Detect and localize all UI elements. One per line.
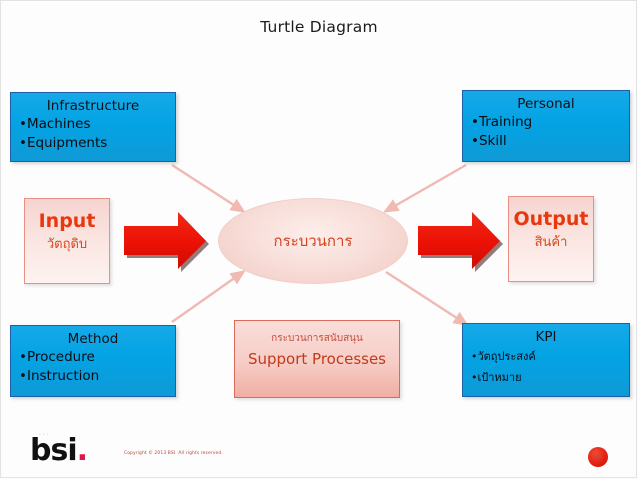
ellipse-process-label: กระบวนการ: [274, 229, 353, 253]
bsi-logo-text: bsi: [30, 433, 77, 468]
arrow-process-to-kpi: [386, 272, 466, 324]
box-infrastructure-heading: Infrastructure: [11, 98, 175, 115]
bsi-logo-dot: .: [77, 433, 87, 468]
box-support-thai-label: กระบวนการสนับสนุน: [235, 331, 399, 346]
box-infrastructure-item-2: •Equipments: [11, 134, 175, 153]
ellipse-process[interactable]: กระบวนการ: [218, 198, 408, 284]
box-method-heading: Method: [11, 331, 175, 348]
box-input[interactable]: Input วัตถุดิบ: [24, 198, 110, 284]
red-arrow-input: [124, 212, 209, 272]
box-personal-item-1: •Training: [463, 113, 629, 132]
box-support-label: Support Processes: [235, 350, 399, 368]
bsi-logo: bsi.: [30, 436, 87, 466]
box-infrastructure[interactable]: Infrastructure •Machines •Equipments: [10, 92, 176, 162]
box-kpi-item-2: •เป้าหมาย: [463, 367, 629, 388]
box-kpi-heading: KPI: [463, 329, 629, 346]
arrow-method-to-process: [172, 272, 243, 322]
arrow-personal-to-process: [386, 165, 466, 211]
slide-canvas: Turtle Diagram: [0, 0, 638, 479]
box-personal-heading: Personal: [463, 96, 629, 113]
box-output-sublabel: สินค้า: [509, 231, 593, 252]
box-method-item-1: •Procedure: [11, 348, 175, 367]
box-kpi-item-1: •วัตถุประสงค์: [463, 346, 629, 367]
box-output-label: Output: [509, 208, 593, 230]
box-input-sublabel: วัตถุดิบ: [25, 233, 109, 254]
page-title: Turtle Diagram: [0, 18, 638, 36]
box-personal-item-2: •Skill: [463, 132, 629, 151]
copyright-text: Copyright © 2013 BSI. All rights reserve…: [124, 451, 223, 456]
red-arrow-output: [418, 212, 503, 272]
page-number-badge: 26: [588, 447, 608, 467]
box-infrastructure-item-1: •Machines: [11, 115, 175, 134]
box-output[interactable]: Output สินค้า: [508, 196, 594, 282]
box-input-label: Input: [25, 210, 109, 232]
box-personal[interactable]: Personal •Training •Skill: [462, 90, 630, 162]
box-kpi[interactable]: KPI •วัตถุประสงค์ •เป้าหมาย: [462, 323, 630, 397]
box-method-item-2: •Instruction: [11, 367, 175, 386]
arrow-infrastructure-to-process: [172, 165, 243, 211]
box-support-processes[interactable]: กระบวนการสนับสนุน Support Processes: [234, 320, 400, 398]
box-method[interactable]: Method •Procedure •Instruction: [10, 325, 176, 397]
